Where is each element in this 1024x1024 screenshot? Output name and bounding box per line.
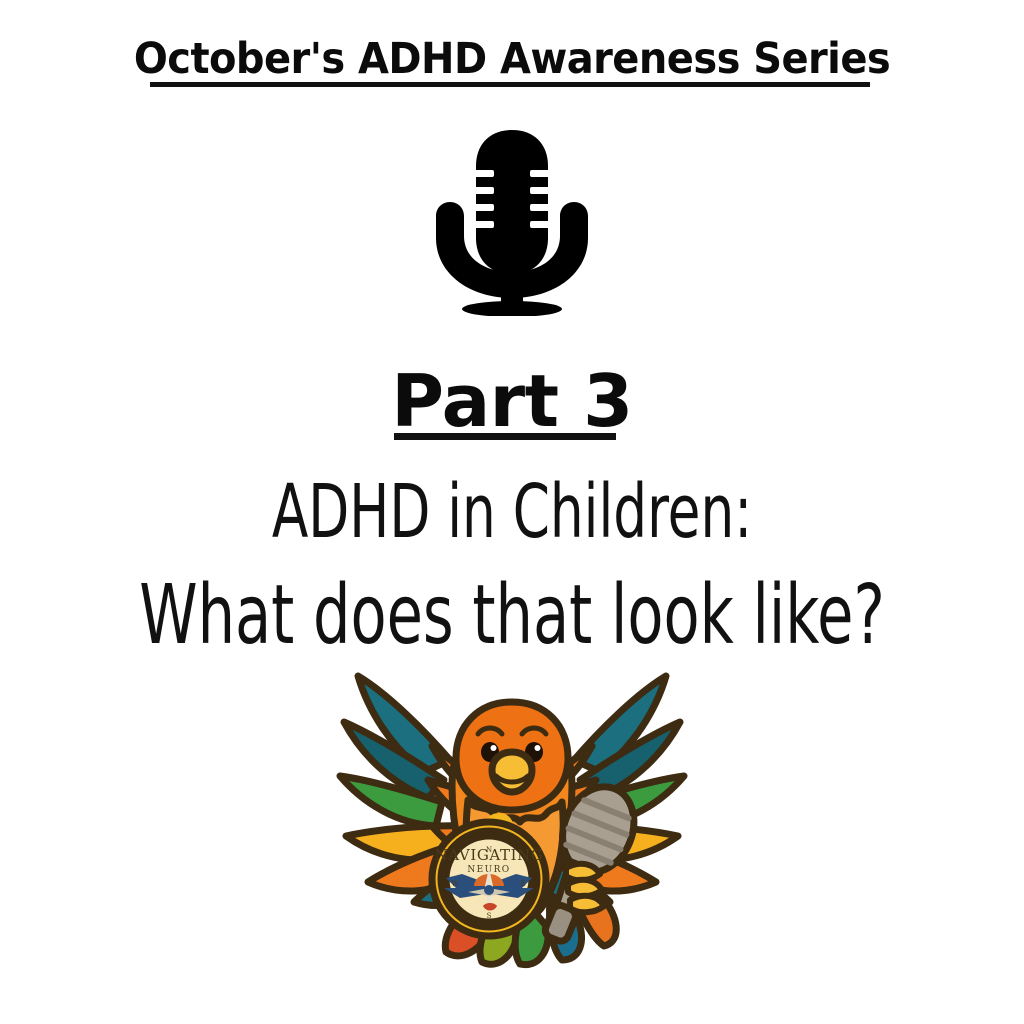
subtitle-line-2: What does that look like? [102, 568, 921, 664]
slide-canvas: October's ADHD Awareness Series [0, 0, 1024, 1024]
subtitle-line-1: ADHD in Children: [102, 468, 921, 556]
compass-mark-w: W [451, 880, 459, 888]
series-title: October's ADHD Awareness Series [36, 34, 988, 84]
compass-mark-e: E [520, 880, 525, 888]
compass-mark-n: N [486, 846, 492, 854]
compass-mark-s: S [487, 912, 492, 920]
series-title-underline [150, 82, 870, 87]
part-label: Part 3 [0, 360, 1024, 442]
retro-microphone-icon [432, 126, 592, 316]
navigating-neurodivergence-bird-logo: NAVIGATING NEURO N E S W [328, 660, 696, 972]
part-label-underline [394, 433, 616, 440]
